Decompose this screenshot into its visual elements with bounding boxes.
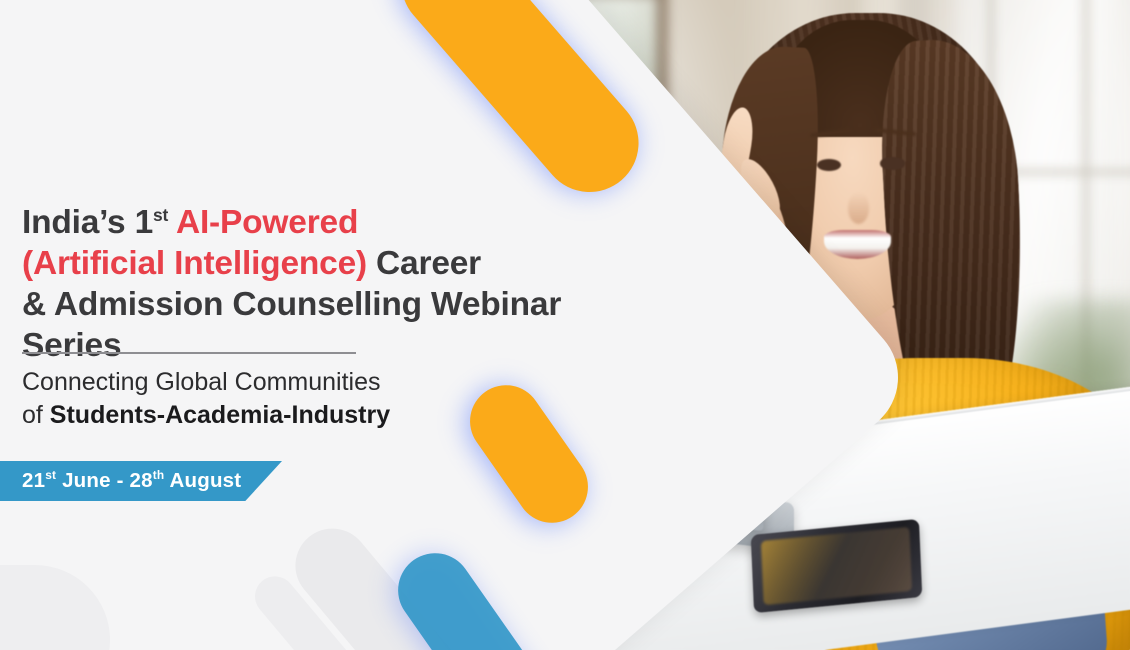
content-block: India’s 1st AI-Powered(Artificial Intell… (0, 0, 620, 650)
headline-line1-pre: India’s 1 (22, 204, 153, 241)
headline: India’s 1st AI-Powered(Artificial Intell… (22, 202, 602, 366)
headline-line2-rest: Career (367, 245, 481, 282)
webinar-banner: India’s 1st AI-Powered(Artificial Intell… (0, 0, 1130, 650)
date-badge-text: 21st June - 28th August (0, 469, 241, 493)
date-start-day: 21 (22, 469, 45, 492)
subhead-line2-pre: of (22, 401, 50, 429)
date-end-month: August (164, 469, 241, 492)
date-start-ordinal: st (45, 468, 56, 482)
divider (22, 352, 356, 354)
date-end-ordinal: th (153, 468, 165, 482)
date-start-month: June - (56, 469, 129, 492)
subheadline: Connecting Global Communitiesof Students… (22, 366, 582, 432)
subhead-line2-strong: Students-Academia-Industry (50, 401, 390, 429)
date-badge: 21st June - 28th August (0, 461, 282, 501)
headline-accent-artificial-intelligence: (Artificial Intelligence) (22, 245, 367, 282)
date-end-day: 28 (130, 469, 153, 492)
headline-ordinal-st: st (153, 205, 168, 225)
subhead-line1: Connecting Global Communities (22, 368, 381, 396)
headline-accent-ai-powered: AI-Powered (168, 204, 358, 241)
